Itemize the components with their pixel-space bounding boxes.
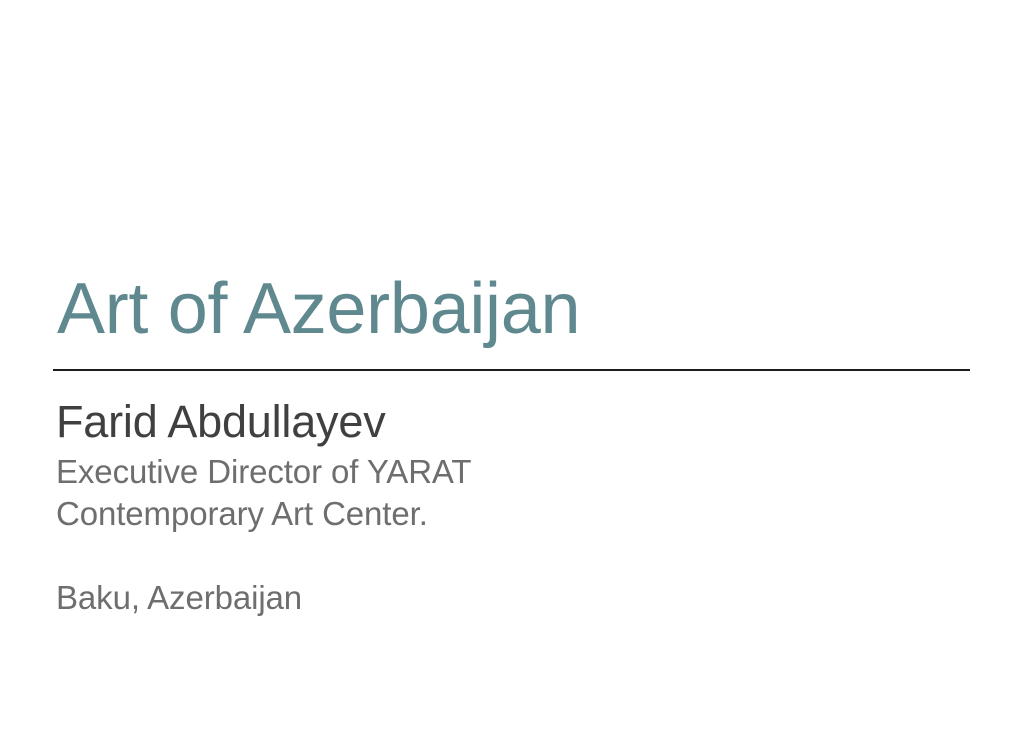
title-block: Art of Azerbaijan (53, 272, 970, 371)
title-slide: Art of Azerbaijan Farid Abdullayev Execu… (0, 0, 1024, 748)
presenter-block: Farid Abdullayev Executive Director of Y… (53, 398, 913, 619)
presenter-name: Farid Abdullayev (53, 398, 913, 446)
presenter-role-line-1: Executive Director of YARAT (53, 451, 913, 493)
presenter-location: Baku, Azerbaijan (53, 577, 913, 619)
presenter-role-line-2: Contemporary Art Center. (53, 493, 913, 535)
title-divider-rule (53, 369, 970, 371)
meta-blank-line (53, 535, 913, 577)
page-title: Art of Azerbaijan (53, 272, 970, 347)
